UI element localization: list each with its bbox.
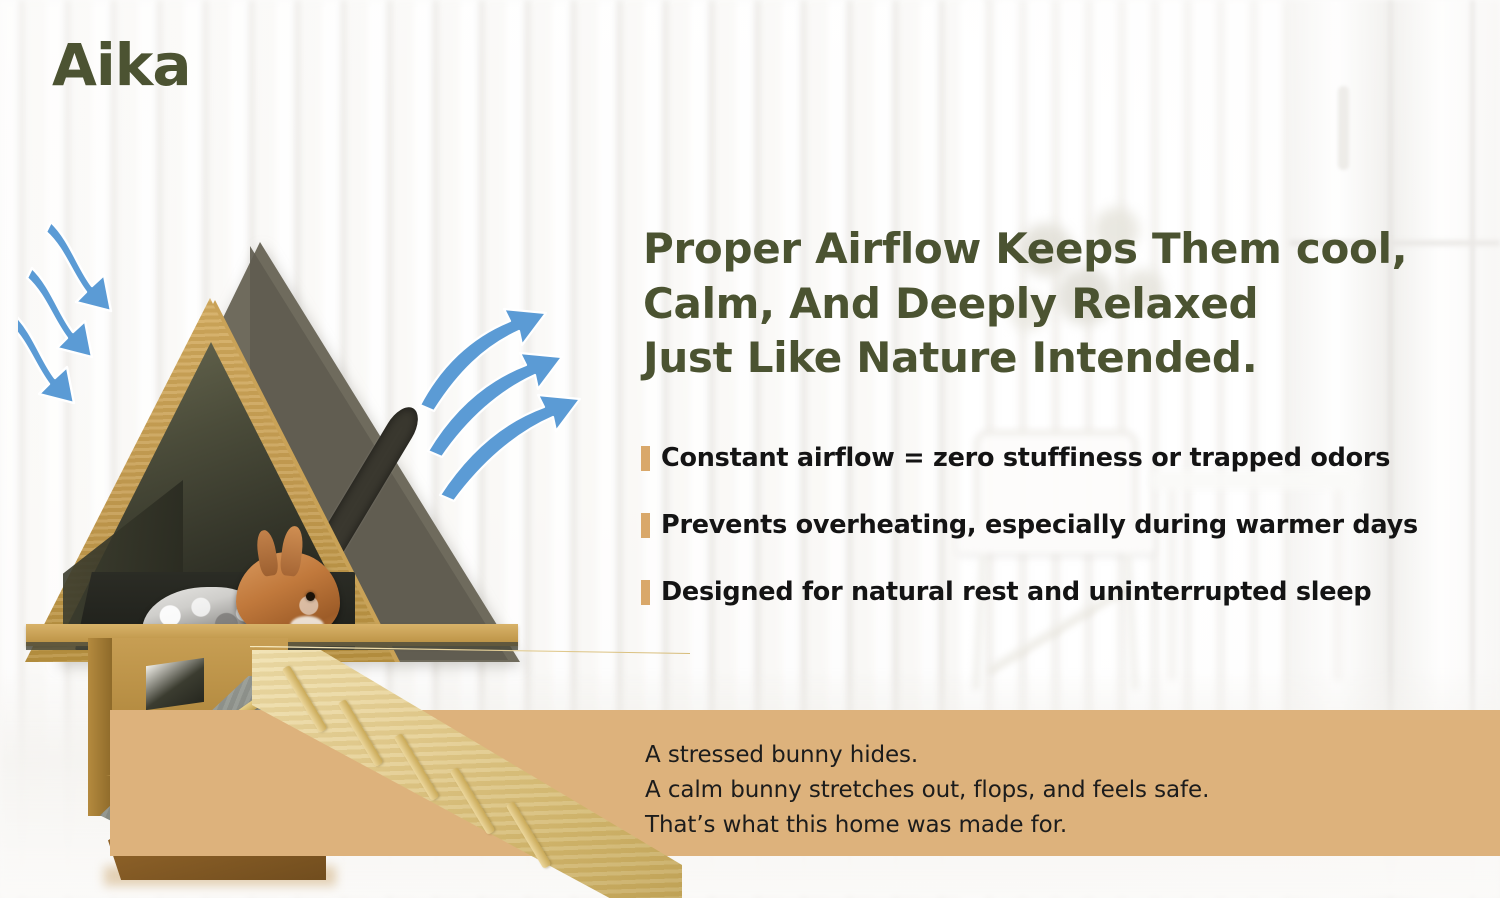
lower-window-opening (146, 658, 204, 710)
footer-line-2: A calm bunny stretches out, flops, and f… (645, 773, 1445, 808)
benefit-item-1: Constant airflow = zero stuffiness or tr… (641, 443, 1461, 473)
headline-line-1: Proper Airflow Keeps Them cool, (643, 222, 1443, 277)
footer-line-1: A stressed bunny hides. (645, 738, 1445, 773)
brown-rabbit-eye (306, 592, 315, 601)
lower-left-post (88, 638, 112, 816)
benefit-item-2: Prevents overheating, especially during … (641, 510, 1461, 540)
footer-line-3: That’s what this home was made for. (645, 808, 1445, 843)
benefit-text: Designed for natural rest and uninterrup… (661, 577, 1371, 607)
footer-copy: A stressed bunny hides. A calm bunny str… (645, 738, 1445, 843)
bullet-marker-icon (641, 446, 650, 471)
headline-line-2: Calm, And Deeply Relaxed (643, 277, 1443, 332)
benefit-text: Constant airflow = zero stuffiness or tr… (661, 443, 1390, 473)
headline-line-3: Just Like Nature Intended. (643, 331, 1443, 386)
benefit-text: Prevents overheating, especially during … (661, 510, 1418, 540)
brand-logo: Aika (52, 36, 190, 94)
benefit-list: Constant airflow = zero stuffiness or tr… (641, 443, 1461, 607)
bullet-marker-icon (641, 513, 650, 538)
headline: Proper Airflow Keeps Them cool, Calm, An… (643, 222, 1443, 386)
bullet-marker-icon (641, 580, 650, 605)
benefit-item-3: Designed for natural rest and uninterrup… (641, 577, 1461, 607)
promo-banner: Aika (0, 0, 1500, 898)
